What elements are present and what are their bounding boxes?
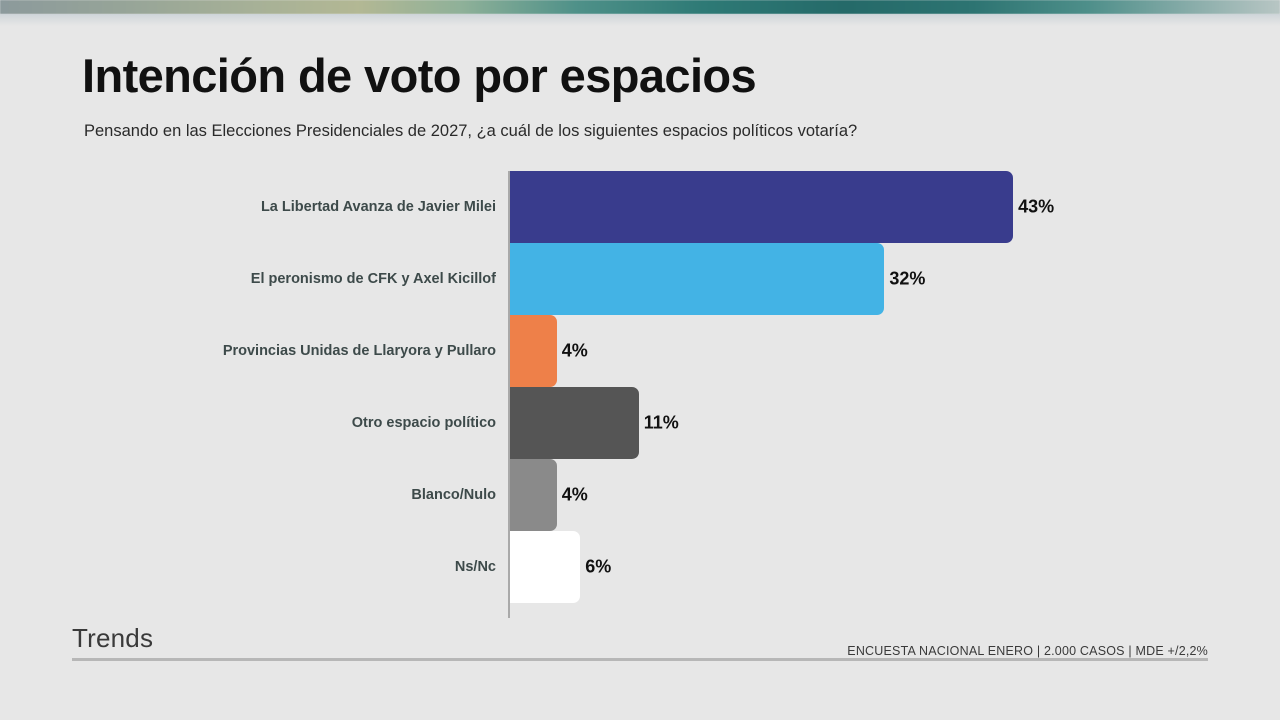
bar-category-label: Otro espacio político [352,415,496,431]
bar-fill [510,531,580,603]
chart-subtitle: Pensando en las Elecciones Presidenciale… [84,122,857,141]
bar-value-label: 11% [644,413,679,434]
bar-value-label: 43% [1018,197,1054,218]
slide-canvas: Intención de voto por espacios Pensando … [0,26,1280,720]
bar-row: Ns/Nc6% [0,531,1280,603]
bar-category-label: Provincias Unidas de Llaryora y Pullaro [223,343,496,359]
bar-value-label: 4% [562,341,588,362]
bar-fill [510,171,1013,243]
brand-logo: Trends [72,623,153,654]
bar-chart: La Libertad Avanza de Javier Milei43%El … [0,171,1280,621]
bar-category-label: La Libertad Avanza de Javier Milei [261,199,496,215]
top-gradient-fade [0,14,1280,26]
bar-value-label: 4% [562,485,588,506]
footer-divider [72,658,1208,661]
bar-category-label: Ns/Nc [455,559,496,575]
bar-fill [510,315,557,387]
bar-fill [510,459,557,531]
page-title: Intención de voto por espacios [82,48,756,103]
bar-row: El peronismo de CFK y Axel Kicillof32% [0,243,1280,315]
top-gradient-strip [0,0,1280,14]
bar-fill [510,387,639,459]
bar-row: La Libertad Avanza de Javier Milei43% [0,171,1280,243]
survey-footnote: ENCUESTA NACIONAL ENERO | 2.000 CASOS | … [847,644,1208,658]
bar-row: Blanco/Nulo4% [0,459,1280,531]
bar-value-label: 32% [889,269,925,290]
bar-category-label: Blanco/Nulo [411,487,496,503]
bar-row: Provincias Unidas de Llaryora y Pullaro4… [0,315,1280,387]
bar-fill [510,243,884,315]
bar-row: Otro espacio político11% [0,387,1280,459]
bar-category-label: El peronismo de CFK y Axel Kicillof [251,271,496,287]
bar-value-label: 6% [585,557,611,578]
